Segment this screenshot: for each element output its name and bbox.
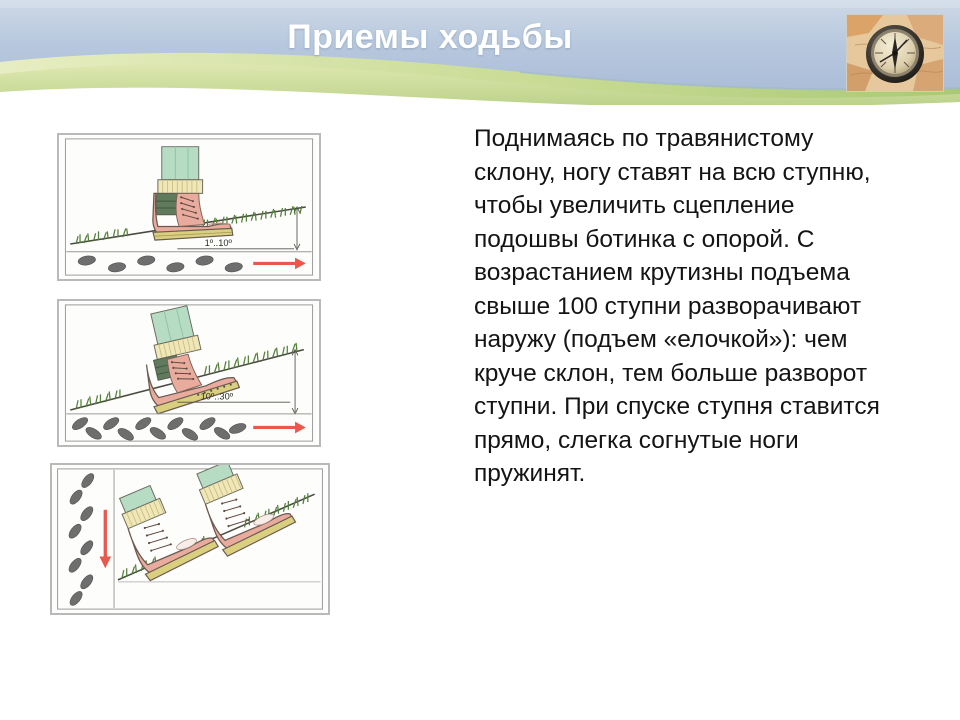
illustration-panel-steep-slope: 10º..30º	[57, 299, 321, 447]
compass-icon	[846, 14, 944, 92]
compass-on-map-graphic	[847, 15, 943, 91]
gentle-slope-drawing: 1º..10º	[59, 135, 319, 279]
steep-slope-drawing: 10º..30º	[59, 301, 319, 445]
header-wave-graphic	[0, 0, 960, 105]
illustration-panel-descent	[50, 463, 330, 615]
body-paragraph: Поднимаясь по травянистому склону, ногу …	[474, 122, 894, 491]
angle-label-panel-2: 10º..30º	[201, 391, 234, 401]
slide-header-banner: Приемы ходьбы	[0, 0, 960, 105]
slide-canvas: Приемы ходьбы	[0, 0, 960, 720]
descent-drawing	[52, 465, 328, 613]
illustration-panel-gentle-slope: 1º..10º	[57, 133, 321, 281]
angle-label-panel-1: 1º..10º	[205, 238, 233, 248]
